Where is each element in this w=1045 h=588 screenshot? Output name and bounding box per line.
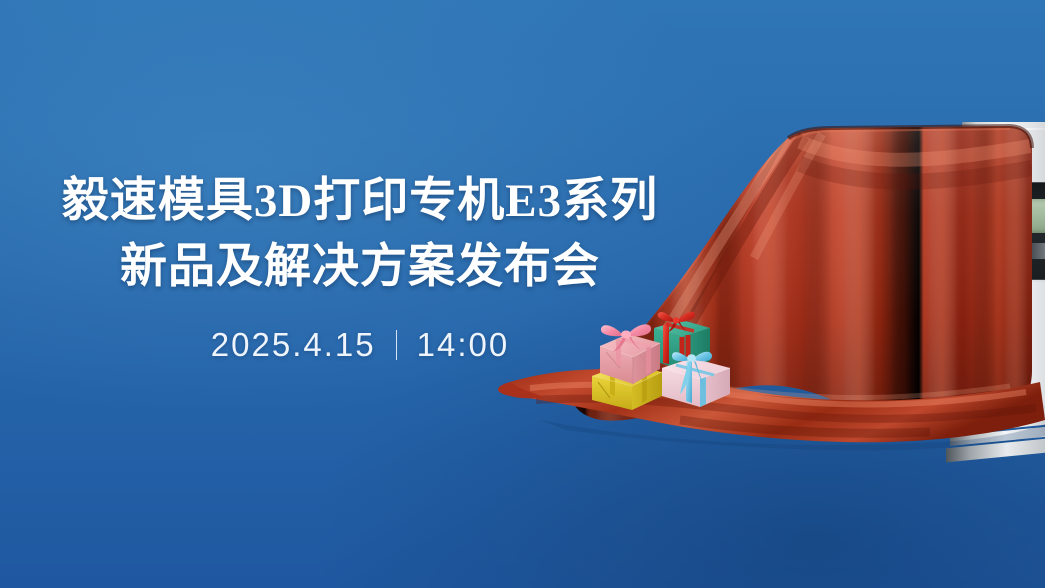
poster-text-block: 毅速模具3D打印专机E3系列 新品及解决方案发布会 2025.4.15 14:0… [0, 168, 720, 364]
event-date: 2025.4.15 [211, 326, 376, 364]
event-poster: 毅速模具3D打印专机E3系列 新品及解决方案发布会 2025.4.15 14:0… [0, 0, 1045, 588]
event-datetime: 2025.4.15 14:00 [0, 326, 720, 364]
headline-line-1: 毅速模具3D打印专机E3系列 [0, 168, 720, 234]
headline-line-2: 新品及解决方案发布会 [0, 234, 720, 300]
datetime-separator [396, 330, 397, 360]
event-time: 14:00 [417, 326, 510, 364]
